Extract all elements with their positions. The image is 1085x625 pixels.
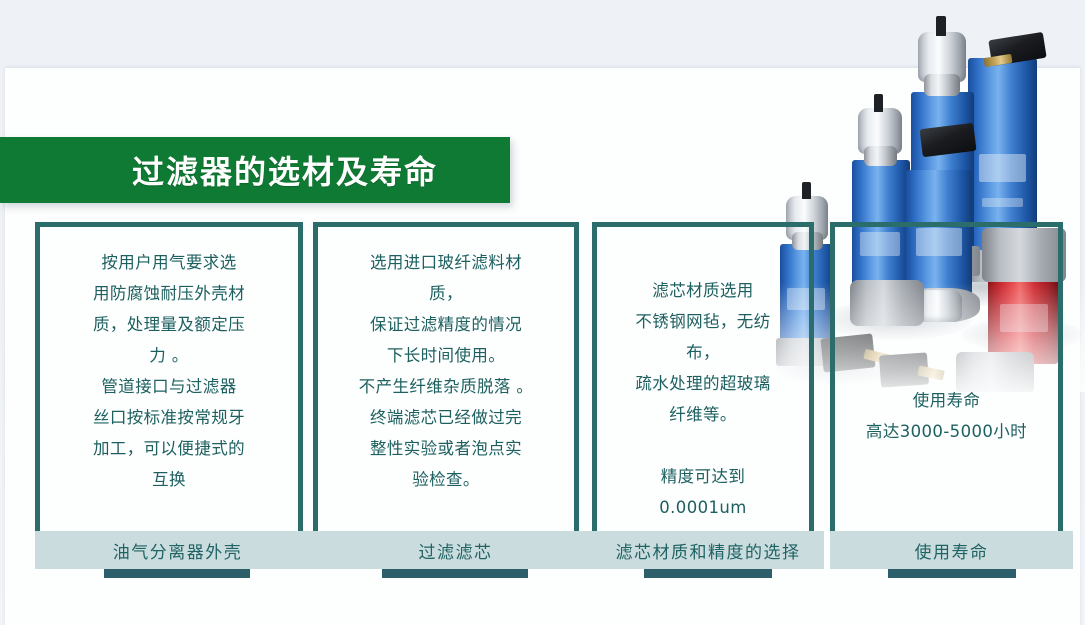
card-footer-element-material-accuracy[interactable]: 滤芯材质和精度的选择 bbox=[592, 531, 824, 569]
cap-nib bbox=[874, 94, 883, 112]
card-body-text: 按用户用气要求选 用防腐蚀耐压外壳材 质，处理量及额定压 力 。 管道接口与过滤… bbox=[40, 247, 298, 495]
card-service-life[interactable]: 使用寿命 高达3000-5000小时 bbox=[830, 222, 1063, 534]
card-footer-label: 过滤滤芯 bbox=[419, 538, 493, 563]
card-footer-underline bbox=[644, 569, 772, 578]
card-footer-label: 油气分离器外壳 bbox=[113, 538, 243, 563]
slide-root: 过滤器的选材及寿命 按用户用气要求选 用防腐蚀耐压外壳材 质，处理量及额定压 力… bbox=[0, 0, 1085, 625]
card-footer-underline bbox=[888, 569, 1016, 578]
card-footer-oil-gas-separator-housing[interactable]: 油气分离器外壳 bbox=[35, 531, 320, 569]
card-element-material-accuracy[interactable]: 滤芯材质选用 不锈钢网毡，无纺 布， 疏水处理的超玻璃 纤维等。 精度可达到 0… bbox=[592, 222, 814, 534]
page-title: 过滤器的选材及寿命 bbox=[72, 147, 438, 193]
card-footer-label: 滤芯材质和精度的选择 bbox=[616, 538, 801, 563]
card-footer-underline bbox=[104, 569, 250, 578]
cap-nib bbox=[802, 182, 811, 199]
card-body-text: 使用寿命 高达3000-5000小时 bbox=[835, 385, 1058, 447]
card-footer-filter-element[interactable]: 过滤滤芯 bbox=[313, 531, 598, 569]
slide-title-banner: 过滤器的选材及寿命 bbox=[0, 137, 510, 203]
card-body-text: 滤芯材质选用 不锈钢网毡，无纺 布， 疏水处理的超玻璃 纤维等。 精度可达到 0… bbox=[597, 275, 809, 523]
card-footer-label: 使用寿命 bbox=[915, 538, 989, 563]
card-body-text: 选用进口玻纤滤料材 质， 保证过滤精度的情况 下长时间使用。 不产生纤维杂质脱落… bbox=[318, 247, 574, 495]
card-filter-element[interactable]: 选用进口玻纤滤料材 质， 保证过滤精度的情况 下长时间使用。 不产生纤维杂质脱落… bbox=[313, 222, 579, 534]
cap-nib bbox=[936, 16, 946, 36]
chrome-collar bbox=[924, 74, 960, 96]
card-footer-underline bbox=[382, 569, 528, 578]
card-oil-gas-separator-housing[interactable]: 按用户用气要求选 用防腐蚀耐压外壳材 质，处理量及额定压 力 。 管道接口与过滤… bbox=[35, 222, 303, 534]
chrome-collar bbox=[864, 146, 897, 166]
card-footer-service-life[interactable]: 使用寿命 bbox=[830, 531, 1073, 569]
